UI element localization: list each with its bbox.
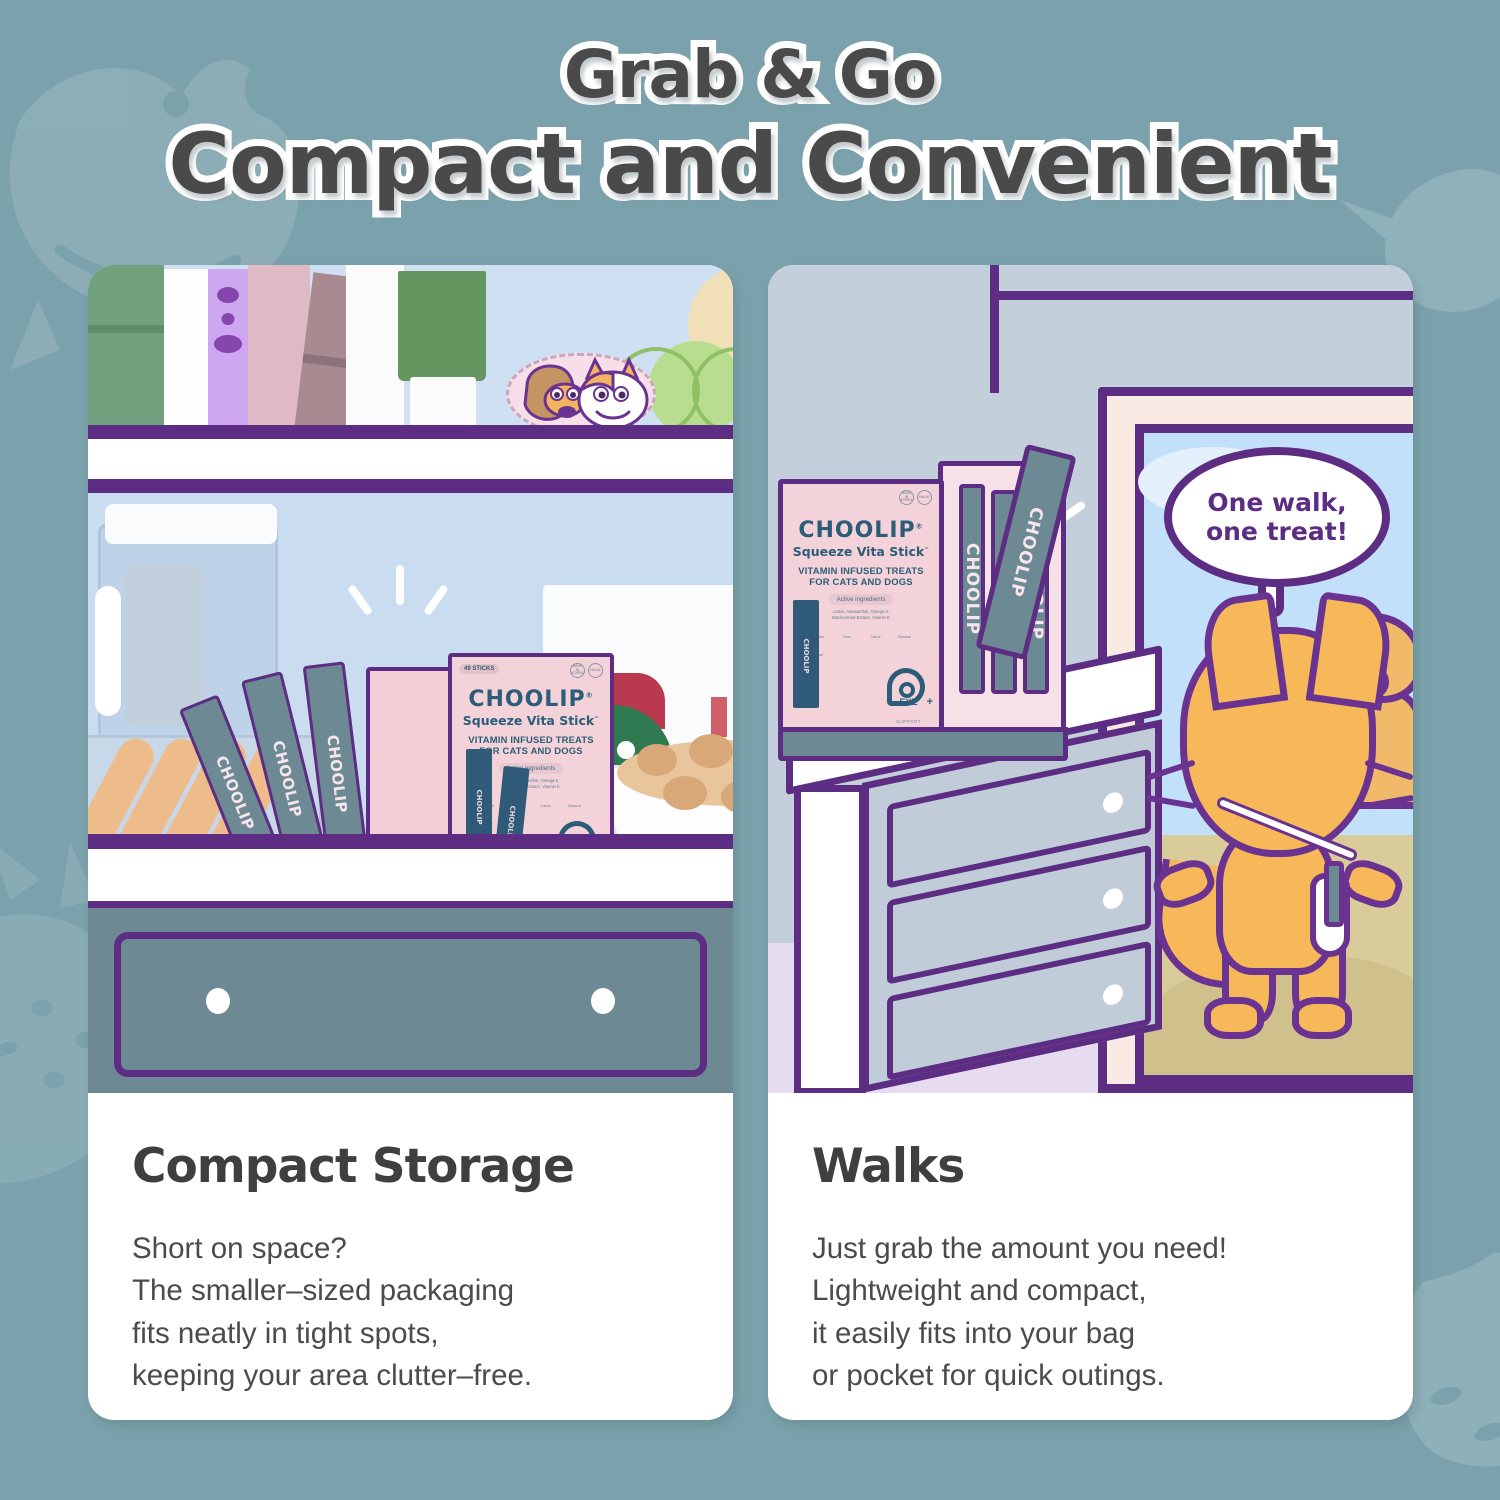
description-line-2: FOR CATS AND DOGS: [479, 745, 582, 756]
shelf-bar-upper: [88, 425, 733, 439]
compact-storage-illustration: CHOOLIP CHOOLIP CHOOLIP 49 STICKS MADE I…: [88, 265, 733, 1093]
kibble-5: [663, 776, 707, 810]
product-brand-logo: CHOOLIP®: [791, 518, 931, 543]
headline: Grab & Go Compact and Convenient: [0, 42, 1500, 206]
jar-lid: [105, 504, 277, 544]
registered-mark: ®: [916, 523, 924, 531]
brand-name: CHOOLIP: [468, 687, 585, 712]
headline-line-1: Grab & Go: [0, 42, 1500, 108]
kibble-1: [637, 744, 677, 776]
fish-icon-label: Tuna: [842, 635, 850, 639]
subtitle-text: Squeeze Vita Stick: [463, 713, 594, 728]
mini-stick-label: CHOOLIP: [802, 639, 810, 674]
dresser: [786, 725, 1162, 1093]
trademark-mark: ™: [924, 547, 929, 553]
box-base: [778, 727, 1068, 761]
speech-bubble: One walk, one treat!: [1164, 447, 1390, 587]
halal-badge: HALAL: [917, 490, 932, 505]
white-carton: [346, 265, 404, 433]
carrot-icon-label: Carrot: [541, 804, 551, 808]
mini-stick-label: CHOOLIP: [475, 790, 483, 825]
drawer-knob-left[interactable]: [206, 988, 230, 1014]
sparkle-2: [347, 584, 373, 616]
purple-dot-3: [214, 335, 242, 353]
fridge-scene: CHOOLIP CHOOLIP CHOOLIP 49 STICKS MADE I…: [88, 265, 733, 1093]
carrot-icon-label: Carrot: [871, 635, 881, 639]
banana-icon-label: Banana: [568, 804, 580, 808]
stick-label: CHOOLIP: [269, 739, 306, 820]
halal-badge: HALAL: [588, 663, 603, 678]
feature-card-walks[interactable]: One walk, one treat!: [768, 265, 1413, 1420]
dresser-knob-2[interactable]: [1103, 887, 1123, 911]
dresser-front: [862, 719, 1162, 1093]
dog-face-icon: [525, 366, 585, 419]
brand-name: CHOOLIP: [798, 518, 915, 543]
jar-highlight: [95, 586, 121, 716]
product-brand-logo: CHOOLIP®: [460, 687, 602, 712]
card-title-walks: Walks: [812, 1139, 1369, 1194]
product-description: VITAMIN INFUSED TREATS FOR CATS AND DOGS: [791, 565, 931, 587]
green-cup: [398, 271, 486, 381]
open-product-box: CHOOLIP CHOOLIP CHOOLIP CHOOLIP MADE: [778, 461, 1070, 761]
cat-face-icon: [579, 360, 647, 428]
active-ingredients-label: Active ingredients: [829, 594, 894, 605]
made-in-korea-badge: MADE IN KOREA: [899, 490, 914, 505]
fridge-drawer[interactable]: [88, 901, 733, 1093]
card-title-compact-storage: Compact Storage: [132, 1139, 689, 1194]
jar-contents: [125, 566, 205, 726]
cat-character: [1160, 617, 1400, 1047]
upright-stick-label: CHOOLIP: [962, 543, 982, 635]
dresser-side-panel: [794, 785, 866, 1093]
purple-package: [208, 269, 248, 433]
dresser-knob-3[interactable]: [1103, 983, 1123, 1007]
certification-badges: MADE IN KOREA HALAL: [899, 490, 932, 505]
carrot-icon: Carrot: [538, 794, 554, 830]
dresser-knob-1[interactable]: [1103, 791, 1123, 815]
card-text-compact-storage: Short on space? The smaller–sized packag…: [132, 1228, 689, 1398]
sling-bag: [1310, 873, 1350, 957]
pack-mark-1: [711, 697, 727, 737]
banana-icon-label: Banana: [898, 635, 910, 639]
white-bottle: [164, 269, 208, 433]
description-line-1: VITAMIN INFUSED TREATS: [468, 734, 593, 745]
walks-caption: Walks Just grab the amount you need! Lig…: [768, 1093, 1413, 1398]
open-box-face: MADE IN KOREA HALAL CHOOLIP® Squeeze Vit…: [778, 479, 944, 747]
hallway-scene: One walk, one treat!: [768, 265, 1413, 1093]
ceiling-line: [990, 291, 1413, 300]
front-mini-stick-1: CHOOLIP: [793, 600, 819, 708]
made-in-korea-badge: MADE IN KOREA: [570, 663, 585, 678]
sparkle-3: [423, 584, 449, 616]
feature-card-compact-storage[interactable]: CHOOLIP CHOOLIP CHOOLIP 49 STICKS MADE I…: [88, 265, 733, 1420]
cat-paw-right: [1292, 997, 1352, 1039]
green-container: [88, 265, 164, 433]
bag-treat-stick: [1324, 861, 1344, 927]
benefit-sub: SUPPORT: [896, 719, 921, 724]
tennis-ball: [648, 341, 733, 437]
cat-paw-left: [1204, 997, 1264, 1039]
product-subtitle: Squeeze Vita Stick™: [791, 544, 931, 559]
card-text-walks: Just grab the amount you need! Lightweig…: [812, 1228, 1369, 1398]
fish-icon: Tuna: [839, 625, 855, 661]
sticks-count-badge: 49 STICKS: [459, 664, 499, 674]
shelf-gap-upper: [88, 439, 733, 479]
dog-cat-sticker: [506, 353, 656, 435]
upright-stick-1: CHOOLIP: [959, 484, 985, 694]
counter-surface: [88, 849, 733, 901]
pulled-stick-label: CHOOLIP: [1005, 505, 1047, 599]
headline-line-2: Compact and Convenient: [0, 122, 1500, 206]
shelf-bar-lower: [88, 479, 733, 493]
drawer-inset: [114, 932, 707, 1077]
description-line-2: FOR CATS AND DOGS: [809, 576, 912, 587]
trademark-mark: ™: [594, 716, 599, 722]
banana-icon: Banana: [897, 625, 913, 661]
benefit-title: EYE: [900, 697, 918, 707]
sparkle-1: [396, 565, 404, 605]
description-line-1: VITAMIN INFUSED TREATS: [798, 565, 923, 576]
walks-illustration: One walk, one treat!: [768, 265, 1413, 1093]
benefit-label: EYE SUPPORT: [896, 692, 921, 728]
drawer-knob-right[interactable]: [591, 988, 615, 1014]
benefit-plus: +: [927, 696, 933, 708]
registered-mark: ®: [586, 692, 594, 700]
wall-corner-line: [990, 265, 999, 393]
carrot-icon: Carrot: [868, 625, 884, 661]
compact-storage-caption: Compact Storage Short on space? The smal…: [88, 1093, 733, 1398]
purple-dot-2: [222, 313, 235, 325]
purple-dot-1: [217, 287, 239, 303]
kibble-2: [689, 734, 733, 768]
speech-bubble-text: One walk, one treat!: [1206, 488, 1348, 547]
counter-edge-bar: [88, 834, 733, 849]
subtitle-text: Squeeze Vita Stick: [793, 544, 924, 559]
stick-label: CHOOLIP: [323, 734, 350, 814]
certification-badges: MADE IN KOREA HALAL: [570, 663, 603, 678]
product-subtitle: Squeeze Vita Stick™: [460, 713, 602, 728]
